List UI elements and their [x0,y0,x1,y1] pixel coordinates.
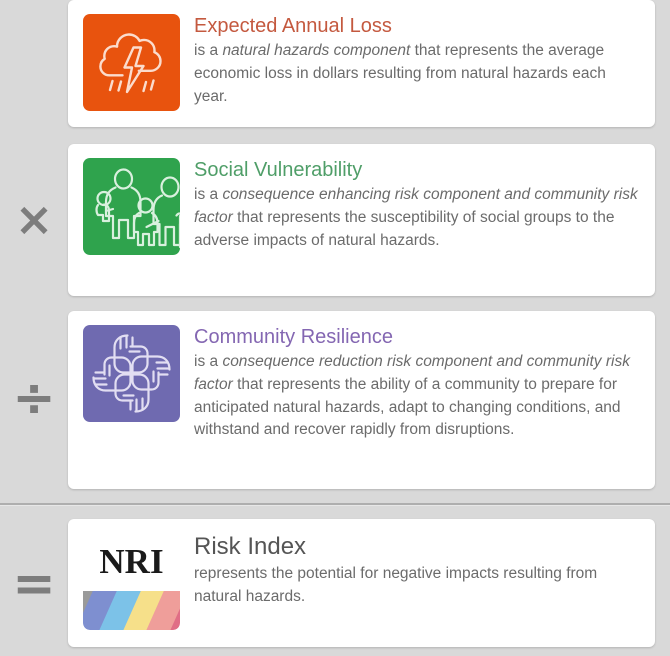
desc-lead: is a [194,42,222,59]
operator-column: × ÷ = [0,0,68,656]
family-group-icon [83,158,180,255]
desc-emphasis: natural hazards component [222,42,410,59]
divide-operator-icon: ÷ [0,372,68,424]
card-title: Community Resilience [194,326,639,348]
desc-lead: is a [194,353,222,370]
desc-rest: that represents the ability of a communi… [194,376,621,438]
card-text-block: Community Resilience is a consequence re… [194,325,639,442]
card-description: represents the potential for negative im… [194,563,639,608]
card-title: Risk Index [194,534,639,561]
multiply-operator-icon: × [0,196,68,242]
desc-rest: that represents the susceptibility of so… [194,209,614,249]
card-risk-index[interactable]: NRI Risk Index represents the potential … [68,519,655,647]
card-description: is a consequence reduction risk componen… [194,351,639,442]
card-title: Expected Annual Loss [194,15,639,37]
desc-lead: is a [194,186,222,203]
nri-logo-stripes [83,591,180,630]
formula-result-divider [0,503,670,505]
nri-logo-icon: NRI [83,533,180,630]
card-text-block: Expected Annual Loss is a natural hazard… [194,14,639,108]
card-text-block: Risk Index represents the potential for … [194,533,639,608]
card-description: is a natural hazards component that repr… [194,40,639,108]
card-description: is a consequence enhancing risk componen… [194,184,639,252]
card-title: Social Vulnerability [194,159,639,181]
desc-rest: represents the potential for negative im… [194,565,597,605]
card-text-block: Social Vulnerability is a consequence en… [194,158,639,252]
nri-logo-text: NRI [83,533,180,591]
four-interlocking-hands-icon [83,325,180,422]
nri-formula-panel: × ÷ = Expected Annual Loss is [0,0,670,656]
equals-operator-icon: = [0,558,68,610]
storm-cloud-lightning-icon [83,14,180,111]
nri-logo: NRI [83,533,180,630]
card-community-resilience[interactable]: Community Resilience is a consequence re… [68,311,655,489]
card-social-vulnerability[interactable]: Social Vulnerability is a consequence en… [68,144,655,296]
card-expected-annual-loss[interactable]: Expected Annual Loss is a natural hazard… [68,0,655,127]
